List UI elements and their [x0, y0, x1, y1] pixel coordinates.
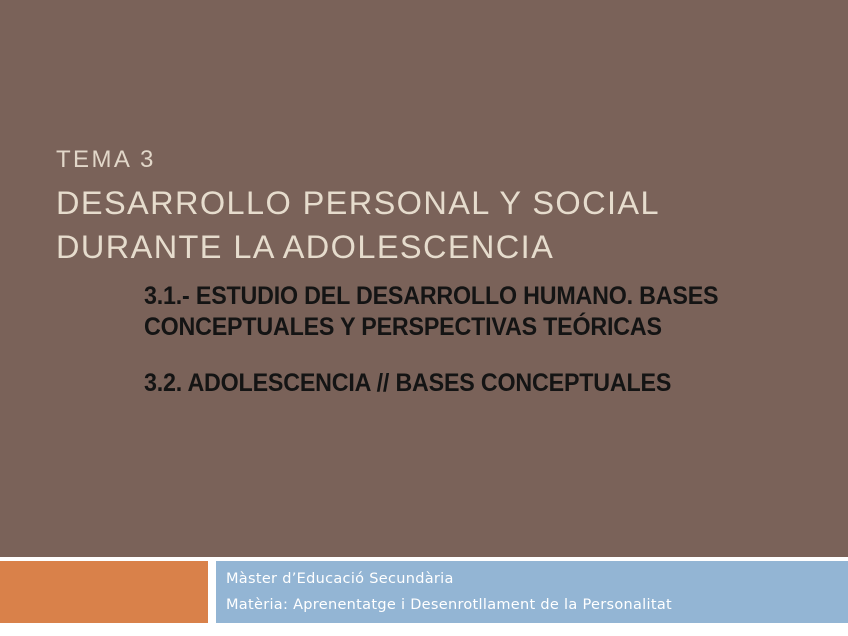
- slide-kicker: TEMA 3: [56, 145, 826, 175]
- footer-line-1: Màster d’Educació Secundària: [226, 566, 826, 592]
- footer-accent-block: [0, 561, 208, 623]
- presentation-slide: TEMA 3 DESARROLLO PERSONAL Y SOCIAL DURA…: [0, 0, 848, 636]
- footer-text: Màster d’Educació Secundària Matèria: Ap…: [226, 566, 826, 618]
- subtitle-block: 3.1.- ESTUDIO DEL DESARROLLO HUMANO. BAS…: [144, 281, 834, 399]
- slide-background: [0, 0, 848, 557]
- page-title: DESARROLLO PERSONAL Y SOCIAL DURANTE LA …: [56, 181, 826, 269]
- subtitle-item-1: 3.1.- ESTUDIO DEL DESARROLLO HUMANO. BAS…: [144, 281, 786, 343]
- footer-line-2: Matèria: Aprenentatge i Desenrotllament …: [226, 592, 826, 618]
- subtitle-item-2: 3.2. ADOLESCENCIA // BASES CONCEPTUALES: [144, 368, 786, 399]
- title-block: TEMA 3 DESARROLLO PERSONAL Y SOCIAL DURA…: [56, 145, 826, 269]
